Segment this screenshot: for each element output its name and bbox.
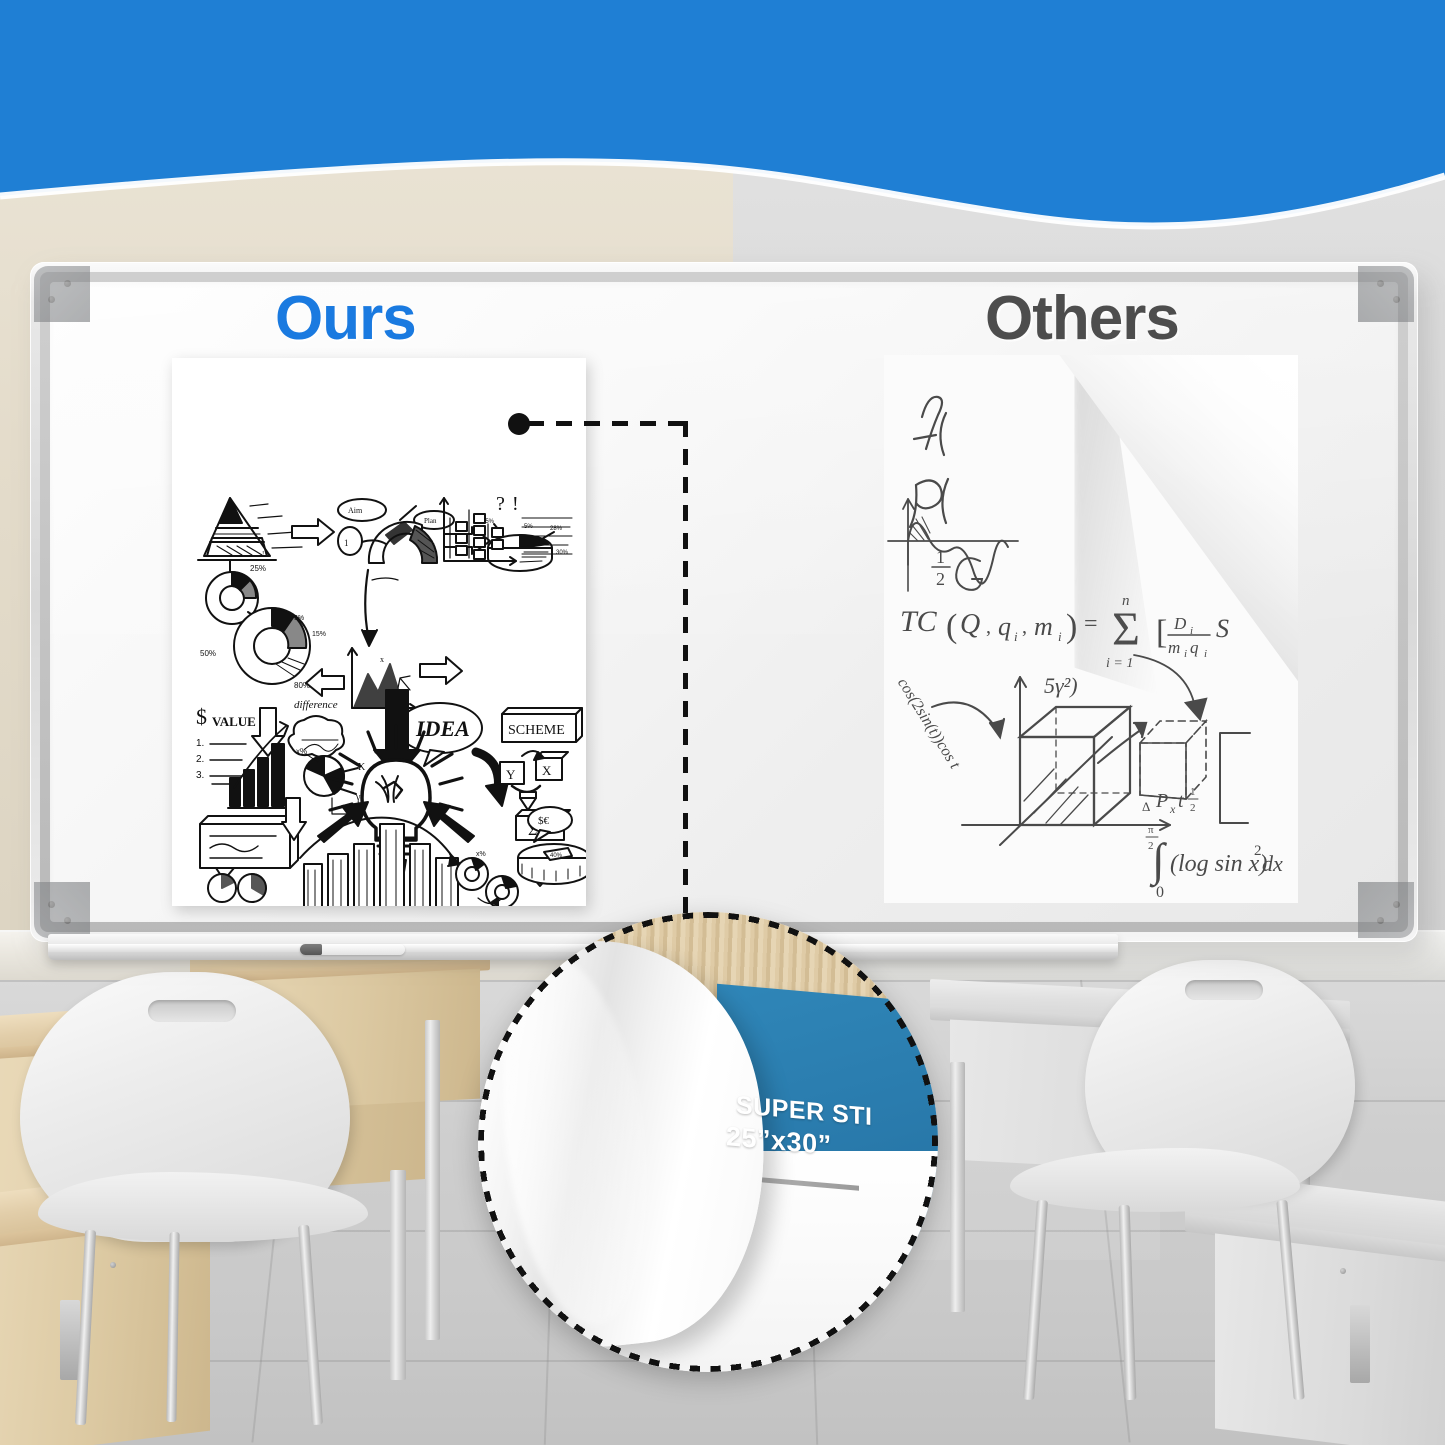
svg-text:SCHEME: SCHEME — [508, 723, 565, 738]
svg-text:i: i — [1184, 648, 1187, 660]
ours-sheet: !! Aim Plan 1 — [172, 358, 586, 906]
label-others: Others — [985, 283, 1179, 354]
svg-text:2: 2 — [936, 569, 945, 589]
svg-text:(: ( — [946, 608, 957, 645]
svg-text:50%: 50% — [200, 649, 216, 658]
svg-text:?: ? — [496, 493, 505, 515]
svg-text:5γ²): 5γ²) — [1044, 673, 1078, 698]
whiteboard-marker — [300, 944, 405, 955]
svg-text:!: ! — [512, 493, 519, 515]
label-ours: Ours — [275, 283, 416, 354]
svg-text:i: i — [1058, 629, 1062, 644]
svg-text:(log sin x): (log sin x) — [1170, 851, 1267, 877]
product-label-text: SUPER STI 25”x30” — [736, 1090, 872, 1167]
business-doodles: !! Aim Plan 1 — [172, 358, 586, 906]
callout-line-vertical — [683, 421, 688, 921]
magnifier-detail-circle: SUPER STI 25”x30” — [478, 912, 938, 1372]
frame-corner-bottom-right — [1358, 882, 1414, 938]
svg-text:5%: 5% — [294, 615, 304, 622]
svg-text:,: , — [986, 616, 991, 638]
svg-text:x%: x% — [296, 747, 307, 756]
svg-text:X: X — [542, 763, 552, 778]
svg-text:30%: 30% — [556, 550, 569, 556]
svg-text:0: 0 — [1156, 884, 1164, 901]
svg-text:x: x — [380, 655, 384, 664]
svg-text:x%: x% — [476, 851, 486, 858]
svg-text:2: 2 — [1254, 843, 1262, 859]
frame-corner-bottom-left — [34, 882, 90, 938]
svg-text:m: m — [1168, 638, 1180, 657]
svg-text:[: [ — [1156, 614, 1167, 651]
svg-text:$: $ — [196, 704, 207, 729]
svg-text:Plan: Plan — [424, 517, 437, 525]
svg-text:1: 1 — [344, 538, 349, 548]
svg-text:2: 2 — [1190, 802, 1196, 814]
frame-corner-top-left — [34, 266, 90, 322]
svg-text:dx: dx — [1262, 851, 1283, 876]
svg-text:Aim: Aim — [348, 506, 363, 515]
svg-text:1.: 1. — [196, 738, 204, 749]
svg-text:Y: Y — [506, 767, 516, 782]
svg-text:,: , — [1022, 616, 1027, 638]
svg-text:K: K — [358, 762, 366, 773]
svg-text:q: q — [1190, 638, 1199, 657]
svg-text:D: D — [1173, 614, 1187, 633]
svg-text:$€: $€ — [538, 815, 550, 827]
svg-text:i: i — [1014, 629, 1018, 644]
frame-corner-top-right — [1358, 266, 1414, 322]
svg-text:15%: 15% — [312, 631, 326, 638]
others-sheet: 1 2 TC ( Q , q i , m i ) — [884, 355, 1298, 903]
svg-text:25%: 25% — [250, 564, 266, 573]
svg-text:i: i — [1204, 648, 1207, 660]
svg-text:1: 1 — [1190, 786, 1196, 798]
svg-text:1: 1 — [936, 547, 945, 567]
product-comparison-image: !! Aim Plan 1 — [0, 0, 1445, 1445]
svg-text:γ: γ — [355, 792, 361, 803]
svg-text:TC: TC — [900, 605, 938, 638]
svg-text:q: q — [998, 612, 1011, 641]
svg-text:3.: 3. — [196, 770, 204, 781]
svg-text:t: t — [1178, 790, 1184, 812]
svg-text:x: x — [1169, 802, 1176, 816]
svg-text:S: S — [1216, 614, 1229, 643]
callout-dot — [508, 413, 530, 435]
svg-text:m: m — [1034, 612, 1053, 641]
svg-text:40%: 40% — [550, 853, 563, 859]
svg-text:difference: difference — [294, 699, 338, 711]
callout-line-horizontal — [528, 421, 688, 426]
svg-text:cos(2sin(t))cos t: cos(2sin(t))cos t — [894, 675, 964, 772]
header-banner — [0, 0, 1445, 230]
svg-text:Δ: Δ — [1142, 799, 1150, 814]
svg-text:VALUE: VALUE — [212, 714, 256, 729]
svg-text:!!: !! — [262, 550, 267, 558]
svg-text:∫: ∫ — [1149, 834, 1167, 888]
svg-text:Q: Q — [960, 609, 980, 640]
marker-cap — [300, 944, 322, 955]
svg-text:2.: 2. — [196, 754, 204, 765]
svg-text:P: P — [1155, 790, 1168, 812]
